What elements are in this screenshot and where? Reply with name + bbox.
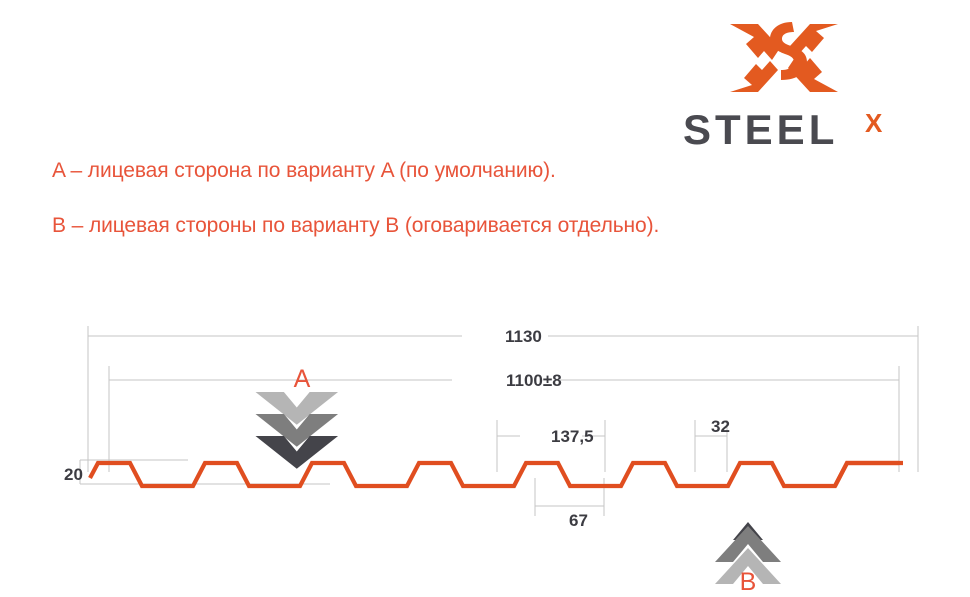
dim-label-cover-width: 1100±8	[506, 371, 562, 390]
marker-b-group: B	[715, 504, 781, 596]
wordmark-x-superscript: X	[865, 108, 883, 138]
marker-a-chevrons	[256, 392, 339, 469]
wordmark-steel-text: STEEL	[683, 106, 838, 150]
dim-label-crest-width: 32	[711, 417, 730, 436]
marker-a-label: A	[294, 365, 311, 393]
steelx-wordmark: STEEL X	[683, 106, 913, 150]
note-variant-b: B – лицевая стороны по варианту B (огова…	[52, 214, 659, 238]
dim-label-overall-width: 1130	[505, 327, 542, 346]
steelx-logo-mark-icon	[728, 18, 840, 98]
dim-label-pitch: 137,5	[551, 427, 594, 446]
dim-label-profile-height: 20	[64, 465, 83, 484]
note-variant-a: A – лицевая сторона по варианту A (по ум…	[52, 159, 556, 183]
dim-label-valley-width: 67	[569, 511, 588, 530]
brand-logo: STEEL X	[683, 18, 913, 146]
marker-b-label: B	[740, 568, 757, 596]
profile-right-flange	[835, 463, 899, 486]
profile-technical-drawing: 1130 1100±8 137,5 32 67 20 A B	[0, 300, 970, 597]
